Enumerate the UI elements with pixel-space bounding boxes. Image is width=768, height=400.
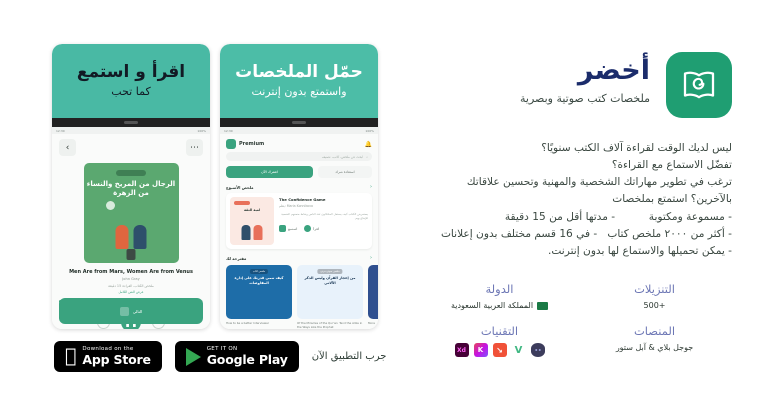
try-app-now-label: جرب التطبيق الآن — [312, 351, 387, 362]
summary-author: بقلم: Maria Konnikova — [279, 204, 368, 208]
restore-purchase-button[interactable]: استعادة شراء — [318, 166, 372, 178]
store-badges-row:  Download on the App Store GET IT ON Go… — [54, 341, 386, 372]
status-bar: 12:30 100% — [220, 127, 378, 134]
recommended-item[interactable]: More — [368, 265, 378, 329]
page-title: أخضر — [520, 56, 650, 86]
desc-line-4: بالآخرين؟ استمتع بملخصات — [372, 191, 732, 208]
kotlin-icon: K — [474, 343, 488, 357]
home-brand: Premium — [226, 139, 264, 149]
cover-title: الرجال من المريخ والنساء من الزهرة — [84, 180, 179, 198]
rec-badge: ملخص صوتي مرئي — [317, 269, 342, 274]
desc-line-3: ترغب في تطوير مهاراتك الشخصية والمهنية و… — [372, 174, 732, 191]
stat-downloads-value: +500 — [577, 301, 732, 310]
brand-header: أخضر ملخصات كتب صوتية وبصرية — [520, 52, 732, 118]
desc-line-6: - أكثر من ٢٠٠٠ ملخص كتاب - في 16 قسم مخت… — [372, 226, 732, 243]
rec-caption: More — [368, 322, 378, 326]
recommended-list: ملخص كتاب كيف تنمي قدرتك على إدارة المفا… — [226, 265, 378, 329]
home-body: 12:30 100% Premium 🔔 ⌕ ابحث عن ملخص، كات… — [220, 127, 378, 329]
summary-title: The Confidence Game — [279, 197, 368, 202]
app-showcase-card: اقرأ و استمع كما تحب 12:30 100% ‹ ⋯ الرج… — [8, 8, 760, 392]
desc-line-5: - مسموعة ومكتوبة - مدتها أقل من 15 دقيقة — [372, 209, 732, 226]
desc-line-2: تفضّل الاستماع مع القراءة؟ — [372, 157, 732, 174]
track-title: Men Are from Mars, Women Are from Venus — [52, 269, 210, 275]
cover-sun-decoration — [106, 201, 115, 210]
status-time: 12:30 — [224, 129, 233, 133]
book-spiral-icon — [666, 52, 732, 118]
section-header-recommended: مقترحة لك › — [226, 255, 372, 261]
section-title: مقترحة لك — [226, 256, 246, 261]
search-icon: ⌕ — [366, 155, 368, 159]
apple-logo-icon:  — [65, 347, 76, 366]
track-author: John Gray — [52, 277, 210, 281]
book-cover: الرجال من المريخ والنساء من الزهرة — [84, 163, 179, 263]
stat-country-value: المملكة العربية السعودية — [451, 301, 533, 310]
status-time: 12:30 — [56, 129, 65, 133]
summary-thumbnail: لعبة الثقة — [230, 197, 274, 245]
brand-text-block: أخضر ملخصات كتب صوتية وبصرية — [520, 52, 650, 105]
rec-cover: ملخص صوتي مرئي من إعجاز القرآن وليس الذك… — [297, 265, 363, 319]
status-bar: 12:30 100% — [52, 127, 210, 134]
lock-icon — [304, 225, 311, 232]
thumb-figures — [242, 225, 263, 240]
stat-tech-label: التقنيات — [422, 324, 577, 338]
search-placeholder: ابحث عن ملخص، كاتب، تصنيف — [322, 155, 364, 159]
listen-action[interactable]: استمع — [279, 225, 297, 232]
stat-downloads: التنزيلات +500 — [577, 282, 732, 310]
chapter-icon — [120, 307, 129, 316]
track-meta: ملخص الكتاب، القراءة 15 دقيقة — [52, 284, 210, 288]
next-chapter-button[interactable]: التالي — [59, 298, 203, 324]
cover-figures — [116, 225, 147, 249]
section-title: ملخص الأسبوع — [226, 185, 254, 190]
more-options-icon[interactable]: ⋯ — [186, 139, 203, 156]
rec-caption: Of the Miracles of the Qur'an: Tend the … — [297, 322, 363, 329]
screenshot-home[interactable]: حمّل الملخصات واستمتع بدون إنترنت 12:30 … — [220, 44, 378, 329]
stat-platforms: المنصات جوجل بلاي & آبل ستور — [577, 324, 732, 357]
read-action[interactable]: اقرأ — [304, 225, 319, 232]
thumb-title: لعبة الثقة — [230, 208, 274, 212]
headphones-icon — [279, 225, 286, 232]
next-chapter-label: التالي — [133, 309, 142, 314]
stat-downloads-label: التنزيلات — [577, 282, 732, 296]
stat-country: الدولة المملكة العربية السعودية — [422, 282, 577, 310]
read-label: اقرأ — [313, 227, 319, 231]
google-play-badge[interactable]: GET IT ON Google Play — [175, 341, 299, 372]
rec-badge: ملخص كتاب — [250, 269, 268, 274]
xcode-icon — [531, 343, 545, 357]
status-battery: 100% — [197, 129, 206, 133]
premium-label: Premium — [239, 141, 264, 147]
swift-icon: ↘ — [493, 343, 507, 357]
stat-country-value-row: المملكة العربية السعودية — [422, 301, 577, 310]
rec-title: كيف تنمي قدرتك على إدارة المفاوضات — [228, 276, 290, 285]
stat-technologies: التقنيات V ↘ K Xd — [422, 324, 577, 357]
hero-headline: حمّل الملخصات — [235, 64, 363, 82]
vue-icon: V — [512, 343, 526, 357]
player-body: 12:30 100% ‹ ⋯ الرجال من المريخ والنساء … — [52, 127, 210, 329]
rec-title: من إعجاز القرآن وليس الذكر الآلاتي — [299, 276, 361, 285]
rec-cover — [368, 265, 378, 319]
saudi-flag-icon — [537, 302, 548, 310]
phone-notch-bar — [220, 118, 378, 127]
summary-description: يستعرض الكتاب كيف يستغل المحتالون ثقة ال… — [279, 212, 368, 220]
player-nav: ‹ ⋯ — [52, 134, 210, 161]
rec-caption: How to be a better Interviewer — [226, 322, 292, 326]
stat-country-label: الدولة — [422, 282, 577, 296]
section-header-week: ملخص الأسبوع › — [226, 184, 372, 190]
stat-platforms-label: المنصات — [577, 324, 732, 338]
search-input[interactable]: ⌕ ابحث عن ملخص، كاتب، تصنيف — [226, 152, 372, 161]
recommended-item[interactable]: ملخص صوتي مرئي من إعجاز القرآن وليس الذك… — [297, 265, 363, 329]
hero-subhead: واستمتع بدون إنترنت — [251, 85, 346, 98]
cover-book-stack — [127, 249, 136, 260]
show-transcript-link[interactable]: عرض النص الكامل — [52, 290, 210, 294]
app-store-badge[interactable]:  Download on the App Store — [54, 341, 162, 372]
adobe-xd-icon: Xd — [455, 343, 469, 357]
screenshot-player[interactable]: اقرأ و استمع كما تحب 12:30 100% ‹ ⋯ الرج… — [52, 44, 210, 329]
cover-badge — [116, 170, 146, 176]
screenshot-hero-home: حمّل الملخصات واستمتع بدون إنترنت — [220, 44, 378, 118]
subscribe-button[interactable]: اشترك الآن — [226, 166, 313, 178]
app-description: ليس لديك الوقت لقراءة آلاف الكتب سنويًا؟… — [372, 140, 732, 260]
google-play-icon — [186, 348, 201, 366]
app-logo-icon — [226, 139, 236, 149]
app-store-label: App Store — [82, 353, 150, 366]
stats-grid: التنزيلات +500 الدولة المملكة العربية ال… — [422, 282, 732, 357]
back-icon[interactable]: ‹ — [59, 139, 76, 156]
tech-icon-list: V ↘ K Xd — [422, 343, 577, 357]
summary-card[interactable]: لعبة الثقة The Confidence Game بقلم: Mar… — [226, 193, 372, 249]
phone-notch-bar — [52, 118, 210, 127]
google-play-label: Google Play — [207, 353, 288, 366]
rec-cover: ملخص كتاب كيف تنمي قدرتك على إدارة المفا… — [226, 265, 292, 319]
home-header: Premium 🔔 — [220, 134, 378, 152]
subscribe-row: اشترك الآن استعادة شراء — [226, 166, 372, 178]
desc-line-7: - يمكن تحميلها والاستماع لها بدون إنترنت… — [372, 243, 732, 260]
screenshot-gallery: اقرأ و استمع كما تحب 12:30 100% ‹ ⋯ الرج… — [52, 44, 392, 334]
recommended-item[interactable]: ملخص كتاب كيف تنمي قدرتك على إدارة المفا… — [226, 265, 292, 329]
summary-actions: استمع اقرأ — [279, 225, 368, 232]
thumb-badge — [234, 201, 250, 205]
notifications-icon[interactable]: 🔔 — [365, 141, 372, 148]
listen-label: استمع — [288, 227, 297, 231]
hero-headline: اقرأ و استمع — [77, 64, 185, 82]
desc-line-1: ليس لديك الوقت لقراءة آلاف الكتب سنويًا؟ — [372, 140, 732, 157]
status-battery: 100% — [365, 129, 374, 133]
hero-subhead: كما تحب — [111, 85, 150, 98]
brand-tagline: ملخصات كتب صوتية وبصرية — [520, 92, 650, 105]
screenshot-hero-player: اقرأ و استمع كما تحب — [52, 44, 210, 118]
stat-platforms-value: جوجل بلاي & آبل ستور — [577, 343, 732, 352]
summary-info: The Confidence Game بقلم: Maria Konnikov… — [279, 197, 368, 245]
